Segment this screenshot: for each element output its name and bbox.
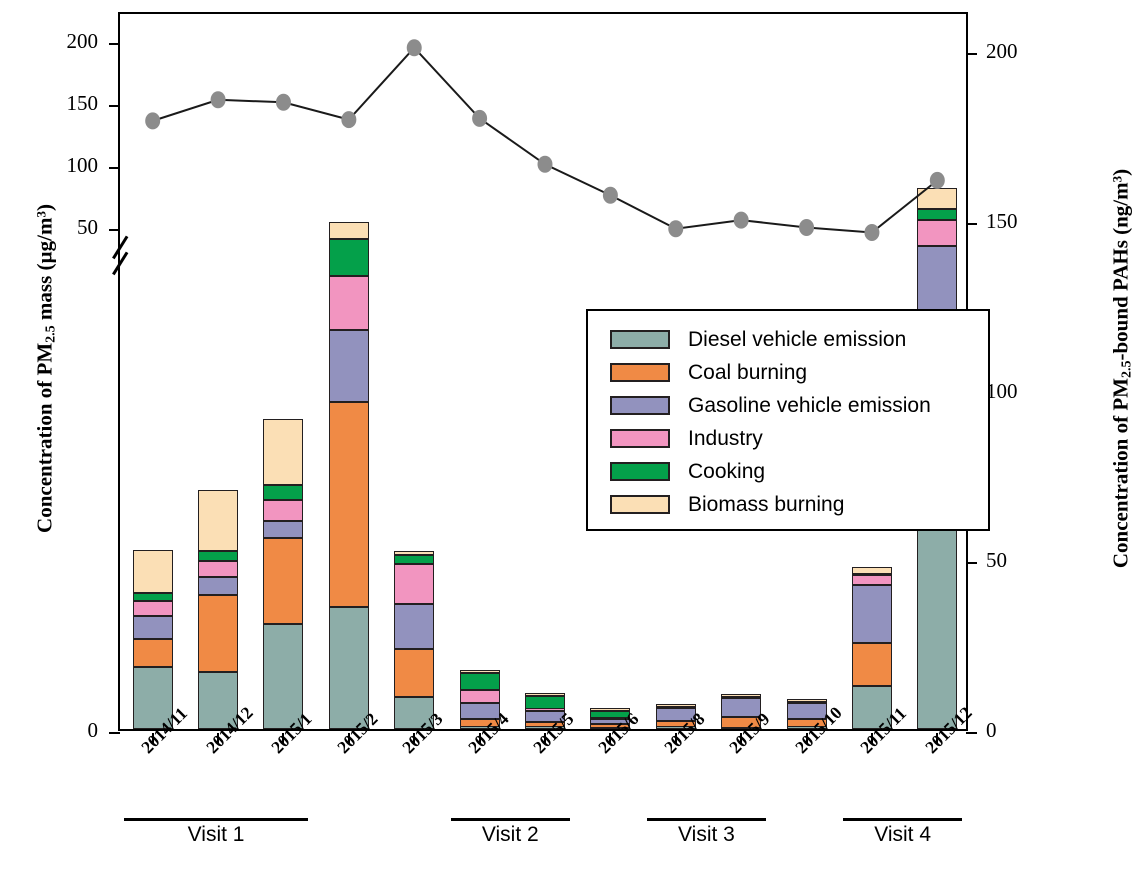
y-left-tick-label: 150 xyxy=(18,93,98,114)
visit-group-label: Visit 4 xyxy=(841,823,964,847)
legend-swatch xyxy=(610,429,670,448)
line-marker[interactable] xyxy=(407,39,422,56)
visit-group-label: Visit 1 xyxy=(122,823,311,847)
y-right-tick-label: 50 xyxy=(986,550,1066,571)
visit-group-label: Visit 3 xyxy=(645,823,768,847)
legend-swatch xyxy=(610,396,670,415)
line-marker[interactable] xyxy=(799,219,814,236)
legend-label: Gasoline vehicle emission xyxy=(688,394,931,418)
y-left-title-pre: Concentration of PM xyxy=(33,343,57,533)
line-marker[interactable] xyxy=(472,110,487,127)
legend-label: Biomass burning xyxy=(688,493,844,517)
y-left-title-post: ) xyxy=(33,204,57,211)
y-right-title-post: ) xyxy=(1109,169,1133,176)
y-right-title-sup: 3 xyxy=(1110,176,1125,183)
y-right-title-sub: 2.5 xyxy=(1120,361,1135,379)
visit-group: Visit 1 xyxy=(122,818,311,847)
line-marker[interactable] xyxy=(864,224,879,241)
y-right-tick-label: 0 xyxy=(986,720,1066,741)
y-left-tick xyxy=(109,732,120,734)
visit-group-bracket xyxy=(124,818,309,821)
line-marker[interactable] xyxy=(734,212,749,229)
plot-area: 200150100500 200150100500 Diesel vehicle… xyxy=(118,12,968,731)
y-left-tick-label: 200 xyxy=(18,31,98,52)
visit-group: Visit 4 xyxy=(841,818,964,847)
legend-label: Industry xyxy=(688,427,763,451)
y-right-tick-label: 150 xyxy=(986,211,1066,232)
legend-label: Coal burning xyxy=(688,361,807,385)
y-axis-right-title: Concentration of PM2.5-bound PAHs (ng/m3… xyxy=(1109,109,1136,629)
visit-group-bracket xyxy=(451,818,570,821)
visit-group-label: Visit 2 xyxy=(449,823,572,847)
y-left-tick-label: 100 xyxy=(18,155,98,176)
y-right-title-mid: -bound PAHs (ng/m xyxy=(1109,182,1133,360)
y-right-title-pre: Concentration of PM xyxy=(1109,378,1133,568)
legend-swatch xyxy=(610,462,670,481)
legend-item[interactable]: Gasoline vehicle emission xyxy=(610,389,988,422)
y-right-tick-label: 100 xyxy=(986,381,1066,402)
legend-item[interactable]: Cooking xyxy=(610,455,988,488)
legend-swatch xyxy=(610,495,670,514)
line-path xyxy=(153,48,938,233)
y-right-tick-label: 200 xyxy=(986,41,1066,62)
y-left-tick xyxy=(109,167,120,169)
line-marker[interactable] xyxy=(603,187,618,204)
y-left-tick xyxy=(109,229,120,231)
legend-label: Diesel vehicle emission xyxy=(688,328,906,352)
y-left-title-sub: 2.5 xyxy=(44,325,59,343)
y-axis-left-title: Concentration of PM2.5 mass (µg/m3) xyxy=(33,109,60,629)
visit-group-bracket xyxy=(843,818,962,821)
legend-swatch xyxy=(610,330,670,349)
y-left-tick xyxy=(109,105,120,107)
legend: Diesel vehicle emissionCoal burningGasol… xyxy=(586,309,990,531)
y-left-tick-label: 0 xyxy=(18,720,98,741)
visit-group-bracket xyxy=(647,818,766,821)
line-marker[interactable] xyxy=(538,156,553,173)
chart-figure: Concentration of PM2.5 mass (µg/m3) Conc… xyxy=(0,0,1136,869)
line-marker[interactable] xyxy=(211,91,226,108)
legend-item[interactable]: Biomass burning xyxy=(610,488,988,521)
legend-label: Cooking xyxy=(688,460,765,484)
legend-item[interactable]: Industry xyxy=(610,422,988,455)
y-left-tick xyxy=(109,43,120,45)
line-marker[interactable] xyxy=(276,94,291,111)
legend-item[interactable]: Diesel vehicle emission xyxy=(610,323,988,356)
line-marker[interactable] xyxy=(145,112,160,129)
legend-swatch xyxy=(610,363,670,382)
line-marker[interactable] xyxy=(341,111,356,128)
y-left-tick-label: 50 xyxy=(18,217,98,238)
legend-item[interactable]: Coal burning xyxy=(610,356,988,389)
line-marker[interactable] xyxy=(930,172,945,189)
visit-group: Visit 2 xyxy=(449,818,572,847)
visit-group: Visit 3 xyxy=(645,818,768,847)
line-marker[interactable] xyxy=(668,220,683,237)
